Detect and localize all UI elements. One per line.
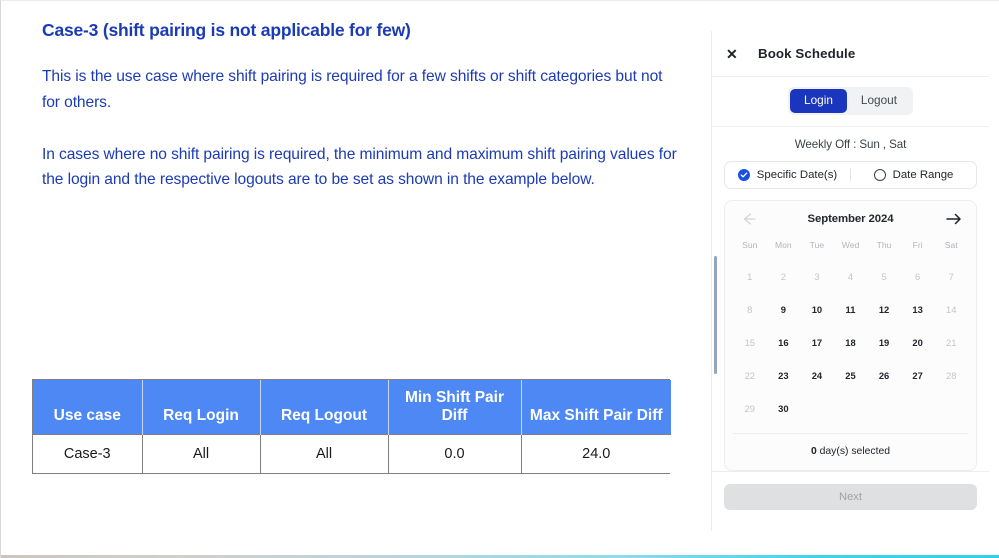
panel-footer: Next (712, 471, 989, 510)
calendar-day[interactable]: 14 (934, 293, 968, 326)
calendar-day[interactable]: 3 (800, 260, 834, 293)
calendar-day-empty (901, 392, 935, 425)
weekly-off-label: Weekly Off : Sun , Sat (712, 127, 989, 161)
calendar-day[interactable]: 2 (767, 260, 801, 293)
radio-unchecked-icon (874, 169, 886, 181)
next-button[interactable]: Next (724, 484, 977, 510)
calendar-day[interactable]: 25 (834, 359, 868, 392)
table-header-row: Use case Req Login Req Logout Min Shift … (33, 380, 671, 434)
calendar-day[interactable]: 18 (834, 326, 868, 359)
option-specific-dates[interactable]: Specific Date(s) (725, 162, 850, 188)
table-cell: 24.0 (521, 434, 671, 473)
calendar-day[interactable]: 21 (934, 326, 968, 359)
calendar-day[interactable]: 7 (934, 260, 968, 293)
table-header-cell: Min Shift Pair Diff (388, 380, 521, 434)
table-header-cell: Req Login (142, 380, 260, 434)
calendar-day[interactable]: 9 (767, 293, 801, 326)
panel-title: Book Schedule (758, 46, 855, 61)
table-cell: All (142, 434, 260, 473)
calendar-day[interactable]: 8 (733, 293, 767, 326)
calendar-day[interactable]: 19 (867, 326, 901, 359)
page-title: Case-3 (shift pairing is not applicable … (42, 19, 682, 42)
calendar-day[interactable]: 5 (867, 260, 901, 293)
use-case-table: Use case Req Login Req Logout Min Shift … (32, 379, 670, 474)
book-schedule-panel: ✕ Book Schedule Login Logout Weekly Off … (711, 31, 989, 531)
table-cell: 0.0 (388, 434, 521, 473)
calendar-day[interactable]: 17 (800, 326, 834, 359)
calendar-day[interactable]: 11 (834, 293, 868, 326)
tab-login[interactable]: Login (790, 89, 847, 113)
selected-count-label: day(s) selected (817, 446, 890, 457)
calendar-month-label: September 2024 (808, 213, 894, 225)
option-date-range[interactable]: Date Range (851, 162, 976, 188)
arrow-left-icon[interactable] (739, 212, 757, 226)
calendar-day[interactable]: 26 (867, 359, 901, 392)
segmented-control: Login Logout (788, 87, 913, 115)
calendar-dow: Thu (867, 234, 901, 260)
calendar-dow: Sun (733, 234, 767, 260)
calendar-day[interactable]: 16 (767, 326, 801, 359)
calendar-day[interactable]: 27 (901, 359, 935, 392)
calendar-dow: Tue (800, 234, 834, 260)
calendar-day[interactable]: 1 (733, 260, 767, 293)
panel-scrollbar-thumb[interactable] (714, 256, 717, 374)
slide-paragraph-2: In cases where no shift pairing is requi… (42, 142, 682, 194)
calendar-days: 1234567891011121314151617181920212223242… (733, 260, 968, 425)
calendar-day[interactable]: 29 (733, 392, 767, 425)
calendar-day[interactable]: 6 (901, 260, 935, 293)
calendar-day[interactable]: 13 (901, 293, 935, 326)
calendar-day-empty (867, 392, 901, 425)
radio-checked-icon (738, 169, 750, 181)
calendar-day[interactable]: 28 (934, 359, 968, 392)
calendar-dow: Wed (834, 234, 868, 260)
calendar-dow: Fri (901, 234, 935, 260)
panel-header: ✕ Book Schedule (712, 31, 989, 77)
calendar-day-empty (934, 392, 968, 425)
calendar-day[interactable]: 15 (733, 326, 767, 359)
close-icon[interactable]: ✕ (726, 47, 742, 61)
table-header-cell: Use case (33, 380, 142, 434)
calendar-dow: Sat (934, 234, 968, 260)
calendar-day-empty (800, 392, 834, 425)
calendar-day[interactable]: 22 (733, 359, 767, 392)
calendar-nav: September 2024 (733, 209, 968, 234)
slide-paragraph-1: This is the use case where shift pairing… (42, 64, 682, 116)
table-row: Case-3 All All 0.0 24.0 (33, 434, 671, 473)
calendar-card: September 2024 Sun Mon Tue Wed Thu Fri S… (724, 200, 977, 471)
table-cell: All (260, 434, 388, 473)
login-logout-toggle: Login Logout (712, 77, 989, 127)
date-mode-selector: Specific Date(s) Date Range (724, 161, 977, 189)
calendar-day[interactable]: 4 (834, 260, 868, 293)
table-cell: Case-3 (33, 434, 142, 473)
calendar-day[interactable]: 20 (901, 326, 935, 359)
calendar-day[interactable]: 30 (767, 392, 801, 425)
table-header-cell: Req Logout (260, 380, 388, 434)
calendar-day[interactable]: 12 (867, 293, 901, 326)
calendar-day[interactable]: 10 (800, 293, 834, 326)
option-specific-dates-label: Specific Date(s) (757, 169, 837, 181)
calendar-day[interactable]: 23 (767, 359, 801, 392)
calendar-grid: Sun Mon Tue Wed Thu Fri Sat (733, 234, 968, 260)
calendar-day-empty (834, 392, 868, 425)
slide-content: Case-3 (shift pairing is not applicable … (42, 19, 682, 193)
selection-summary: 0 day(s) selected (733, 433, 968, 470)
calendar-dow: Mon (767, 234, 801, 260)
tab-logout[interactable]: Logout (847, 89, 911, 113)
slide-page: Case-3 (shift pairing is not applicable … (0, 0, 999, 558)
arrow-right-icon[interactable] (944, 212, 962, 226)
calendar-day[interactable]: 24 (800, 359, 834, 392)
table-header-cell: Max Shift Pair Diff (521, 380, 671, 434)
option-date-range-label: Date Range (893, 169, 954, 181)
